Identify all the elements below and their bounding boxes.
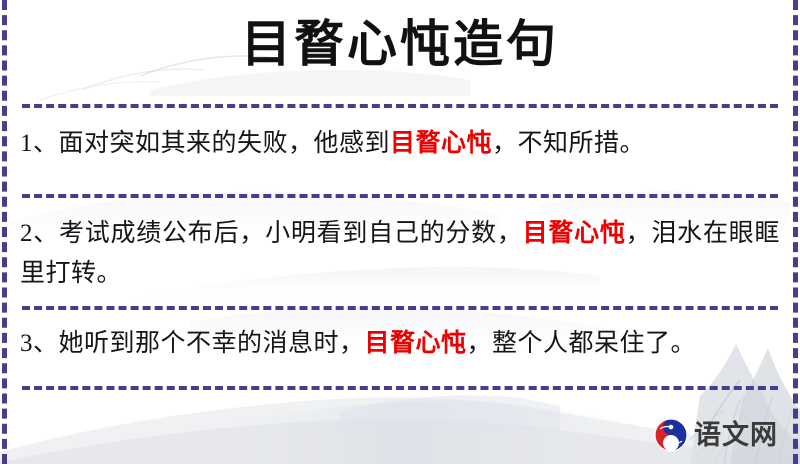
- site-logo[interactable]: 语文网: [654, 418, 778, 452]
- page-title-text: 目瞀心忳造句: [241, 16, 559, 74]
- divider-4: [22, 386, 778, 390]
- divider-3: [22, 306, 778, 310]
- sentence-number-3: 3、: [20, 330, 59, 357]
- divider-2: [22, 194, 778, 198]
- site-logo-text: 语文网: [694, 422, 778, 449]
- idiom-highlight-1: 目瞀心忳: [390, 130, 492, 157]
- page-title: 目瞀心忳造句: [0, 16, 800, 74]
- example-sentence-2: 2、考试成绩公布后，小明看到自己的分数，目瞀心忳，泪水在眼眶里打转。: [20, 214, 780, 294]
- sentence-text-after-1: ，不知所措。: [492, 130, 645, 157]
- example-sentence-3: 3、她听到那个不幸的消息时，目瞀心忳，整个人都呆住了。: [20, 324, 780, 364]
- sentence-number-1: 1、: [20, 130, 59, 157]
- sentence-number-2: 2、: [20, 220, 59, 247]
- worksheet-page: 目瞀心忳造句 1、面对突如其来的失败，他感到目瞀心忳，不知所措。 2、考试成绩公…: [0, 0, 800, 464]
- example-sentence-1: 1、面对突如其来的失败，他感到目瞀心忳，不知所措。: [20, 124, 780, 164]
- idiom-highlight-3: 目瞀心忳: [365, 330, 467, 357]
- sentence-text-after-3: ，整个人都呆住了。: [467, 330, 697, 357]
- yin-yang-fish-icon: [654, 418, 688, 452]
- sentence-text-before-1: 面对突如其来的失败，他感到: [59, 130, 391, 157]
- sentence-text-before-2: 考试成绩公布后，小明看到自己的分数，: [59, 220, 523, 247]
- sentence-text-before-3: 她听到那个不幸的消息时，: [59, 330, 365, 357]
- idiom-highlight-2: 目瞀心忳: [523, 220, 626, 247]
- divider-1: [22, 104, 778, 108]
